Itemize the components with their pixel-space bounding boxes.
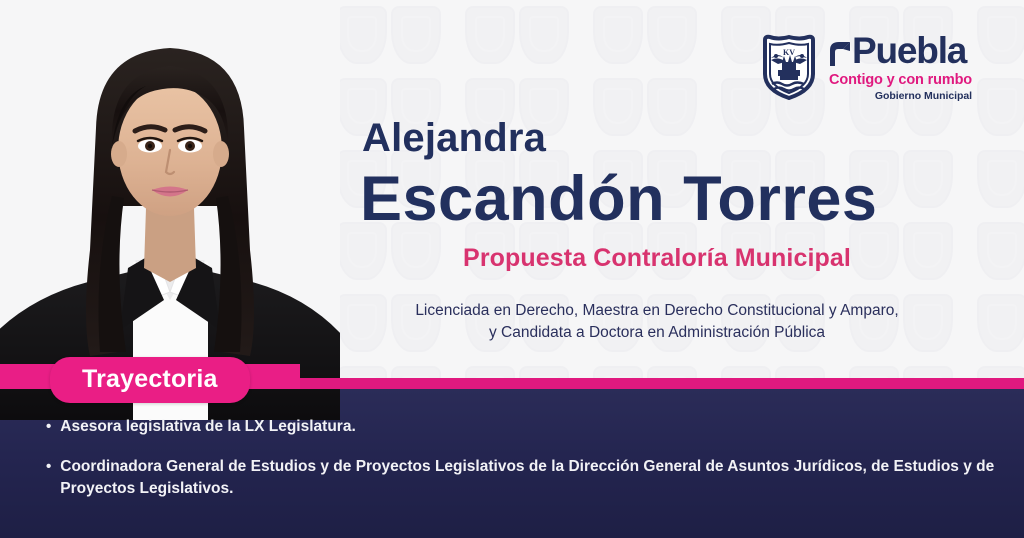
trajectory-list: •Asesora legislativa de la LX Legislatur…: [46, 416, 996, 518]
degrees-line-2: y Candidata a Doctora en Administración …: [336, 322, 978, 344]
logo-government-label: Gobierno Municipal: [829, 91, 972, 102]
list-item: •Coordinadora General de Estudios y de P…: [46, 456, 996, 500]
bullet-marker-icon: •: [46, 416, 51, 438]
list-item-text: Coordinadora General de Estudios y de Pr…: [60, 456, 996, 500]
svg-text:KV: KV: [783, 48, 795, 57]
last-name: Escandón Torres: [360, 168, 877, 231]
list-item-text: Asesora legislativa de la LX Legislatura…: [60, 416, 996, 438]
first-name: Alejandra: [362, 118, 546, 158]
campaign-banner: KV Puebla Contigo y con rumbo Gobierno: [0, 0, 1024, 538]
list-item: •Asesora legislativa de la LX Legislatur…: [46, 416, 996, 438]
logo-tagline: Contigo y con rumbo: [829, 73, 972, 88]
arrow-swoosh-icon: [829, 39, 852, 69]
puebla-government-logo: KV Puebla Contigo y con rumbo Gobierno: [760, 32, 972, 101]
trayectoria-badge: Trayectoria: [50, 357, 250, 403]
role-title: Propuesta Contraloría Municipal: [336, 245, 978, 273]
bullet-marker-icon: •: [46, 456, 51, 500]
puebla-coat-of-arms-icon: KV: [760, 34, 818, 100]
degrees-text: Licenciada en Derecho, Maestra en Derech…: [336, 300, 978, 345]
degrees-line-1: Licenciada en Derecho, Maestra en Derech…: [336, 300, 978, 322]
logo-wordmark: Puebla: [829, 32, 972, 69]
logo-puebla-text: Puebla: [852, 32, 966, 69]
